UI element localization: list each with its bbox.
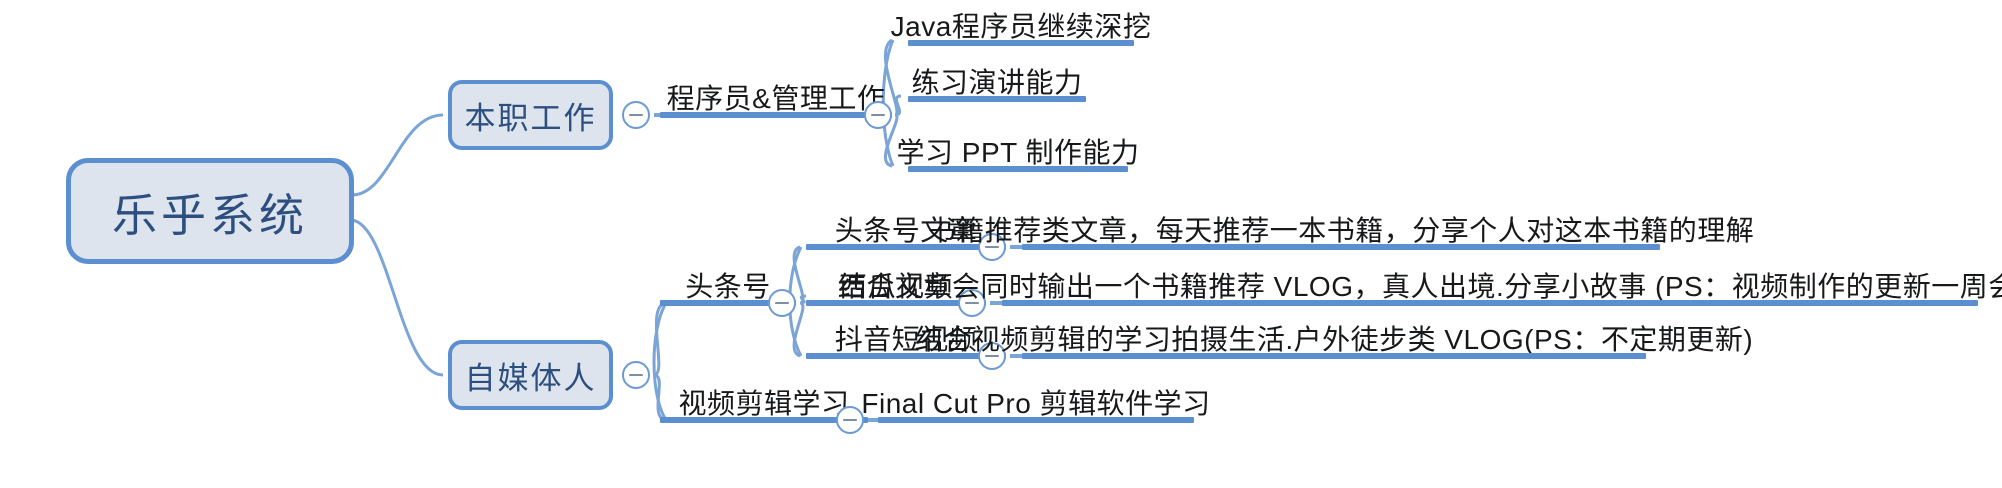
- branch-node-work-label: 本职工作: [465, 93, 597, 138]
- node-underline: [1022, 353, 1646, 359]
- node-douyin-shorts-detail[interactable]: 结合视频剪辑的学习拍摄生活.户外徒步类 VLOG(PS：不定期更新): [1022, 317, 1646, 359]
- node-ppt-skills[interactable]: 学习 PPT 制作能力: [908, 130, 1128, 172]
- node-underline: [1022, 244, 1660, 250]
- mindmap-canvas: 乐乎系统 本职工作 程序员&管理工作 Java程序员继续深挖 练习演讲能力 学习…: [0, 0, 2002, 488]
- node-underline: [908, 166, 1128, 172]
- node-speech-practice[interactable]: 练习演讲能力: [908, 60, 1086, 102]
- node-underline: [1002, 300, 1978, 306]
- collapse-minus-icon-work[interactable]: [622, 101, 650, 129]
- node-underline: [878, 417, 1194, 423]
- root-node-label: 乐乎系统: [112, 179, 308, 244]
- node-underline: [908, 40, 1134, 46]
- node-final-cut-pro[interactable]: Final Cut Pro 剪辑软件学习: [878, 381, 1194, 423]
- node-underline: [660, 112, 892, 118]
- collapse-minus-icon-toutiao[interactable]: [768, 289, 796, 317]
- node-underline: [908, 96, 1086, 102]
- collapse-minus-icon-programmer-management[interactable]: [864, 101, 892, 129]
- node-toutiao-article-detail[interactable]: 书籍推荐类文章，每天推荐一本书籍，分享个人对这本书籍的理解: [1022, 208, 1660, 250]
- branch-node-work[interactable]: 本职工作: [448, 80, 613, 150]
- node-programmer-management[interactable]: 程序员&管理工作: [660, 76, 892, 118]
- branch-node-self-media[interactable]: 自媒体人: [448, 340, 613, 410]
- collapse-minus-icon-self-media[interactable]: [622, 361, 650, 389]
- node-java-deep-dive[interactable]: Java程序员继续深挖: [908, 4, 1134, 46]
- node-xigua-video-detail[interactable]: 结合文章会同时输出一个书籍推荐 VLOG，真人出境.分享小故事 (PS：视频制作…: [1002, 264, 1978, 306]
- root-node[interactable]: 乐乎系统: [66, 158, 354, 264]
- branch-node-self-media-label: 自媒体人: [465, 353, 597, 398]
